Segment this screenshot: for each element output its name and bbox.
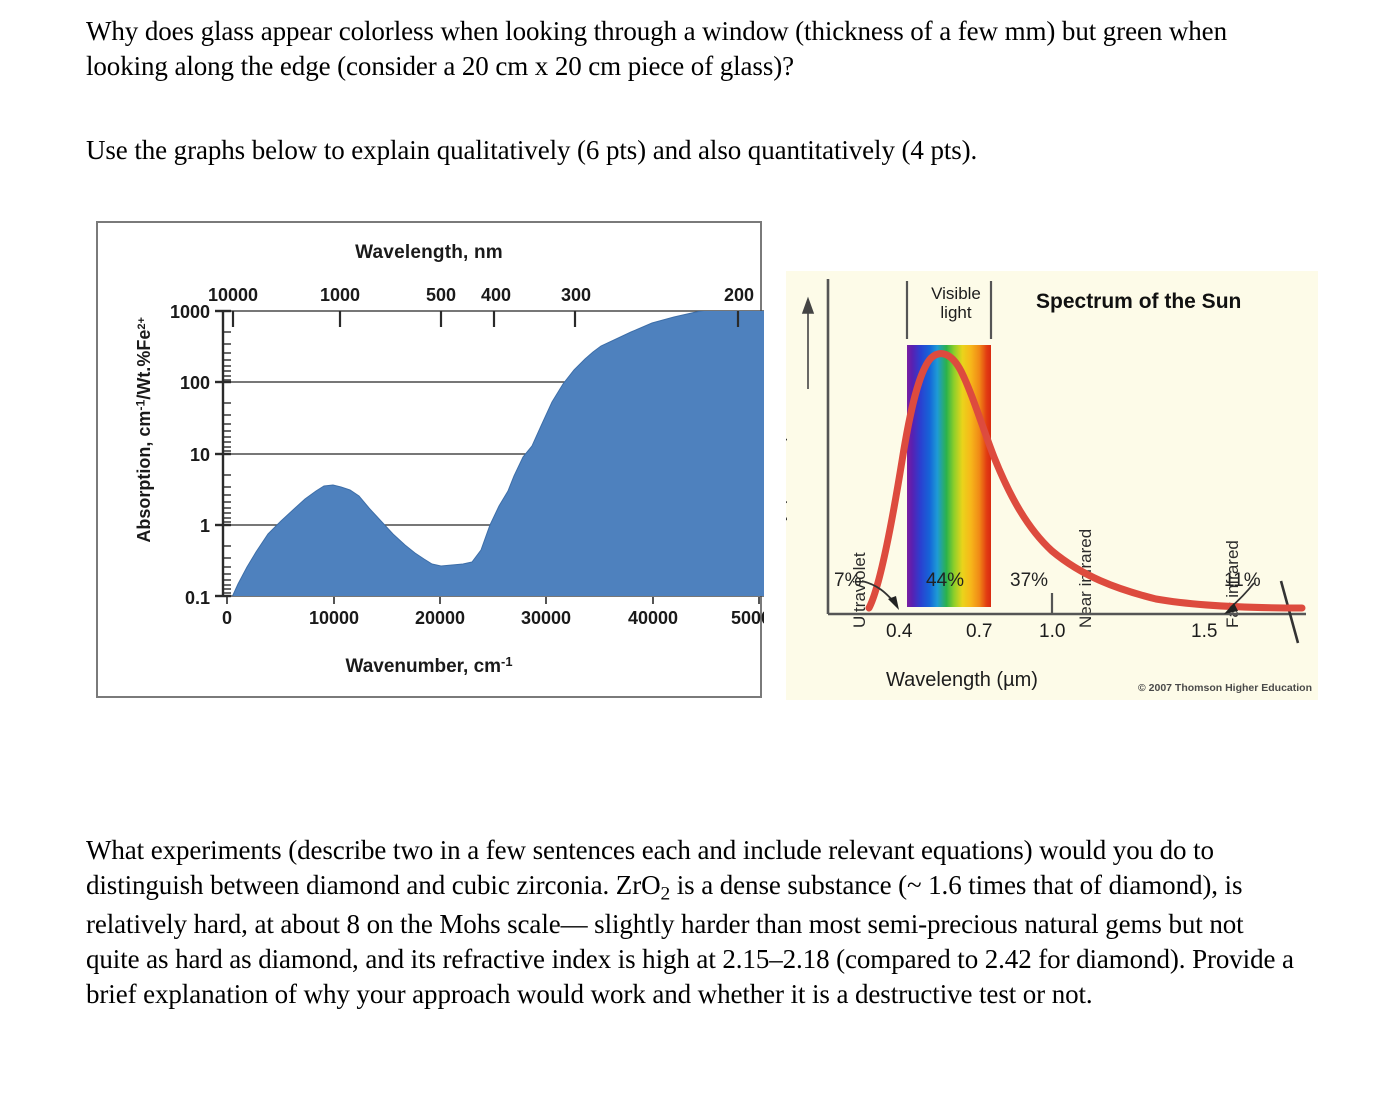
x-tick-0: 0 <box>222 608 232 628</box>
top-tick-300: 300 <box>561 285 591 305</box>
y-tick-100: 100 <box>180 373 210 393</box>
top-tick-10000: 10000 <box>208 285 258 305</box>
absorption-chart-panel: Wavelength, nm Absorption, cm-1/Wt.%Fe2+… <box>96 221 762 698</box>
visible-light-bracket <box>907 281 991 339</box>
absorption-area-series <box>233 301 764 597</box>
x-tick-50000: 50000 <box>731 608 764 628</box>
solar-x-tick-1-0: 1.0 <box>1039 621 1065 643</box>
solar-x-tick-0-7: 0.7 <box>966 621 992 643</box>
top-tick-500: 500 <box>426 285 456 305</box>
question-bottom-subscript: 2 <box>661 884 671 905</box>
solar-spectrum-panel: Spectrum of the Sun Radiation Intensity … <box>786 271 1318 700</box>
axis-break-slash <box>1281 581 1298 643</box>
solar-spectrum-x-axis-label: Wavelength (µm) <box>886 669 1038 692</box>
y-tick-0-1: 0.1 <box>185 588 210 608</box>
absorption-x-tick-labels: 0 10000 20000 30000 40000 50000 <box>222 608 764 628</box>
solar-x-tick-0-4: 0.4 <box>886 621 912 643</box>
top-tick-200: 200 <box>724 285 754 305</box>
top-tick-400: 400 <box>481 285 511 305</box>
absorption-y-tick-labels: 1000 100 10 1 0.1 <box>170 302 210 608</box>
absorption-bottom-ticks <box>227 597 759 604</box>
top-tick-1000: 1000 <box>320 285 360 305</box>
y-tick-1000: 1000 <box>170 302 210 322</box>
copyright-notice: © 2007 Thomson Higher Education <box>1138 682 1312 694</box>
solar-x-tick-1-5: 1.5 <box>1191 621 1217 643</box>
question-text-bottom: What experiments (describe two in a few … <box>86 833 1301 1012</box>
intensity-arrow-icon <box>803 299 813 389</box>
absorption-chart-plot: 1000 100 10 1 0.1 10000 1000 500 400 <box>98 223 764 700</box>
y-tick-10: 10 <box>190 445 210 465</box>
solar-radiation-curve <box>869 354 1302 608</box>
y-tick-1: 1 <box>200 516 210 536</box>
absorption-top-tick-labels: 10000 1000 500 400 300 200 <box>208 285 754 305</box>
x-tick-30000: 30000 <box>521 608 571 628</box>
x-tick-40000: 40000 <box>628 608 678 628</box>
x-tick-10000: 10000 <box>309 608 359 628</box>
x-tick-20000: 20000 <box>415 608 465 628</box>
